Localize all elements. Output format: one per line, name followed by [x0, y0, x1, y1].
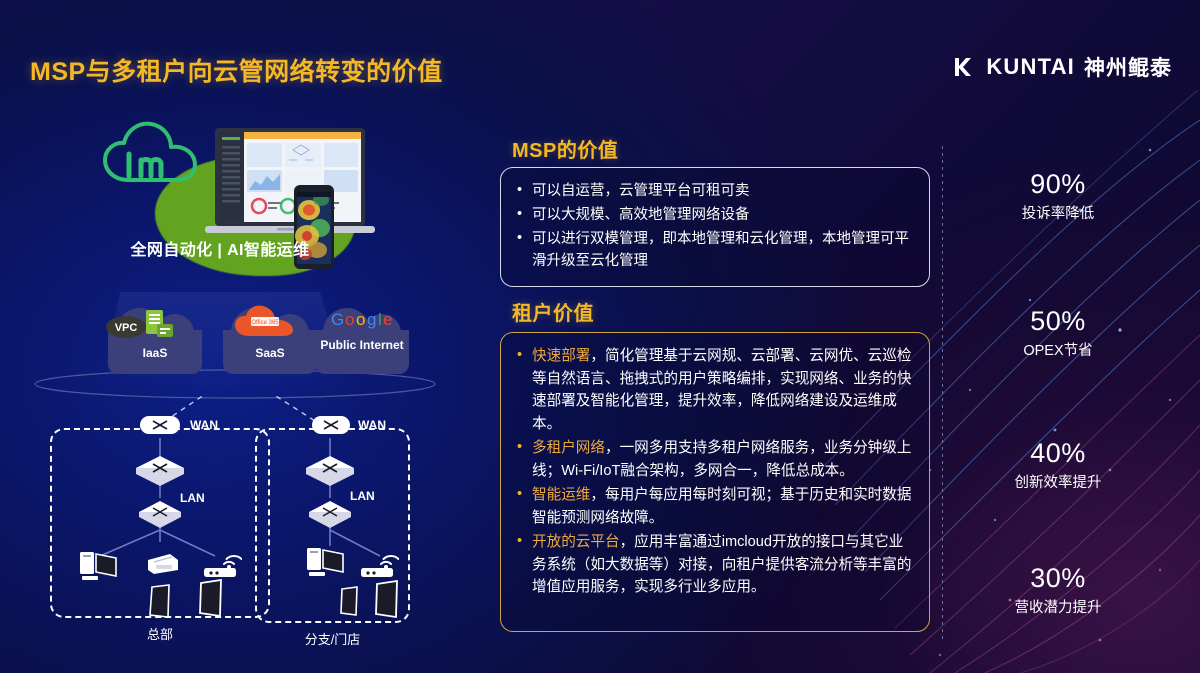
slide-root: MSP与多租户向云管网络转变的价值 KUNTAI 神州鲲泰 — [0, 0, 1200, 673]
branch-tablet-1-icon — [337, 586, 361, 618]
svg-text:o: o — [356, 310, 365, 329]
logo-icon — [953, 55, 977, 79]
tenant-keyword: 开放的云平台 — [532, 534, 620, 550]
hq-core-switch-icon — [134, 454, 186, 488]
svg-text:g: g — [367, 310, 376, 329]
svg-text:Office 365: Office 365 — [251, 320, 279, 326]
stat-caption: 投诉率降低 — [958, 202, 1158, 223]
tenant-bullet-list: 快速部署，简化管理基于云网规、云部署、云网优、云巡检等自然语言、拖拽式的用户策略… — [515, 345, 913, 599]
brand-logo: KUNTAI 神州鲲泰 — [953, 52, 1172, 82]
vertical-dotted-divider — [942, 146, 943, 642]
tenant-keyword: 快速部署 — [532, 348, 590, 364]
cloud-item-public-internet: Public Internet G o o g l e — [315, 330, 409, 374]
site-label-headquarters: 总部 — [50, 624, 270, 643]
cloud-label-iaas: IaaS — [108, 346, 202, 360]
stat-value: 40% — [958, 437, 1158, 469]
branch-wan-label: WAN — [358, 418, 386, 432]
cloud-item-iaas: IaaS VPC — [108, 330, 202, 374]
svg-text:o: o — [345, 310, 354, 329]
hq-tablet-1-icon — [147, 584, 173, 620]
branch-tablet-2-icon — [372, 580, 402, 620]
hq-wan-label: WAN — [190, 418, 218, 432]
stat-caption: OPEX节省 — [958, 339, 1158, 360]
msp-bullet-list: 可以自运营，云管理平台可租可卖 可以大规模、高效地管理网络设备 可以进行双模管理… — [515, 180, 913, 272]
hq-wan-router-icon — [137, 410, 183, 440]
cloud-services-row: IaaS VPC SaaS — [0, 292, 470, 402]
hq-wireless-ap-icon — [198, 546, 242, 582]
msp-bullet-item: 可以进行双模管理，即本地管理和云化管理，本地管理可平滑升级至云化管理 — [515, 228, 913, 272]
network-topology-diagram: 总部 WAN LAN — [0, 396, 470, 666]
branch-wireless-ap-icon — [355, 546, 399, 582]
tenant-bullet-item: 多租户网络，一网多用支持多租户网络服务，业务分钟级上线；Wi-Fi/IoT融合架… — [515, 437, 913, 482]
msp-section-title: MSP的价值 — [512, 134, 618, 163]
svg-text:VPC: VPC — [115, 322, 138, 334]
cloud-shape-public-internet: Public Internet — [315, 330, 409, 374]
stat-innovation-efficiency: 40% 创新效率提升 — [958, 437, 1158, 492]
branch-desktop-pc-icon — [305, 544, 349, 582]
tenant-keyword: 多租户网络 — [532, 440, 605, 456]
msp-bullet-item: 可以自运营，云管理平台可租可卖 — [515, 180, 913, 202]
stat-value: 90% — [958, 168, 1158, 200]
left-illustration-panel: 全网自动化 | AI智能运维 IaaS VPC — [0, 96, 480, 673]
tenant-bullet-item: 快速部署，简化管理基于云网规、云部署、云网优、云巡检等自然语言、拖拽式的用户策略… — [515, 345, 913, 435]
site-label-branch: 分支/门店 — [255, 629, 410, 648]
branch-access-switch-icon — [306, 498, 354, 530]
stat-caption: 创新效率提升 — [958, 471, 1158, 492]
logo-chinese-text: 神州鲲泰 — [1084, 52, 1172, 82]
logo-mark-text: KUNTAI — [986, 54, 1075, 80]
msp-value-card: 可以自运营，云管理平台可租可卖 可以大规模、高效地管理网络设备 可以进行双模管理… — [500, 167, 930, 287]
cloud-label-public-internet: Public Internet — [315, 338, 409, 352]
hq-desktop-pc-icon — [78, 548, 122, 584]
stat-caption: 营收潜力提升 — [958, 596, 1158, 617]
branch-core-switch-icon — [304, 454, 356, 488]
google-logo-icon: G o o g l e — [329, 308, 397, 330]
hq-access-switch-icon — [136, 498, 184, 530]
stat-opex-savings: 50% OPEX节省 — [958, 305, 1158, 360]
cloud-item-saas: SaaS Office 365 — [223, 330, 317, 374]
tenant-bullet-item: 开放的云平台，应用丰富通过imcloud开放的接口与其它业务系统（如大数据等）对… — [515, 531, 913, 599]
tenant-keyword: 智能运维 — [532, 487, 590, 503]
tenant-section-title: 租户价值 — [512, 297, 594, 326]
page-title: MSP与多租户向云管网络转变的价值 — [30, 52, 443, 88]
hq-tablet-2-icon — [196, 579, 226, 619]
branch-wan-router-icon — [309, 410, 353, 440]
svg-text:G: G — [331, 310, 344, 329]
stat-complaint-reduction: 90% 投诉率降低 — [958, 168, 1158, 223]
hq-printer-icon — [142, 548, 182, 580]
stat-revenue-potential: 30% 营收潜力提升 — [958, 562, 1158, 617]
vpc-server-icon: VPC — [104, 308, 176, 342]
tenant-value-card: 快速部署，简化管理基于云网规、云部署、云网优、云巡检等自然语言、拖拽式的用户策略… — [500, 332, 930, 632]
svg-text:l: l — [378, 310, 382, 329]
automation-caption: 全网自动化 | AI智能运维 — [0, 236, 440, 260]
cloud-label-saas: SaaS — [223, 346, 317, 360]
svg-text:e: e — [383, 310, 392, 329]
stat-value: 50% — [958, 305, 1158, 337]
msp-bullet-item: 可以大规模、高效地管理网络设备 — [515, 204, 913, 226]
tenant-bullet-item: 智能运维，每用户每应用每时刻可视；基于历史和实时数据智能预测网络故障。 — [515, 484, 913, 529]
stat-value: 30% — [958, 562, 1158, 594]
office365-cloud-icon: Office 365 — [233, 304, 297, 340]
